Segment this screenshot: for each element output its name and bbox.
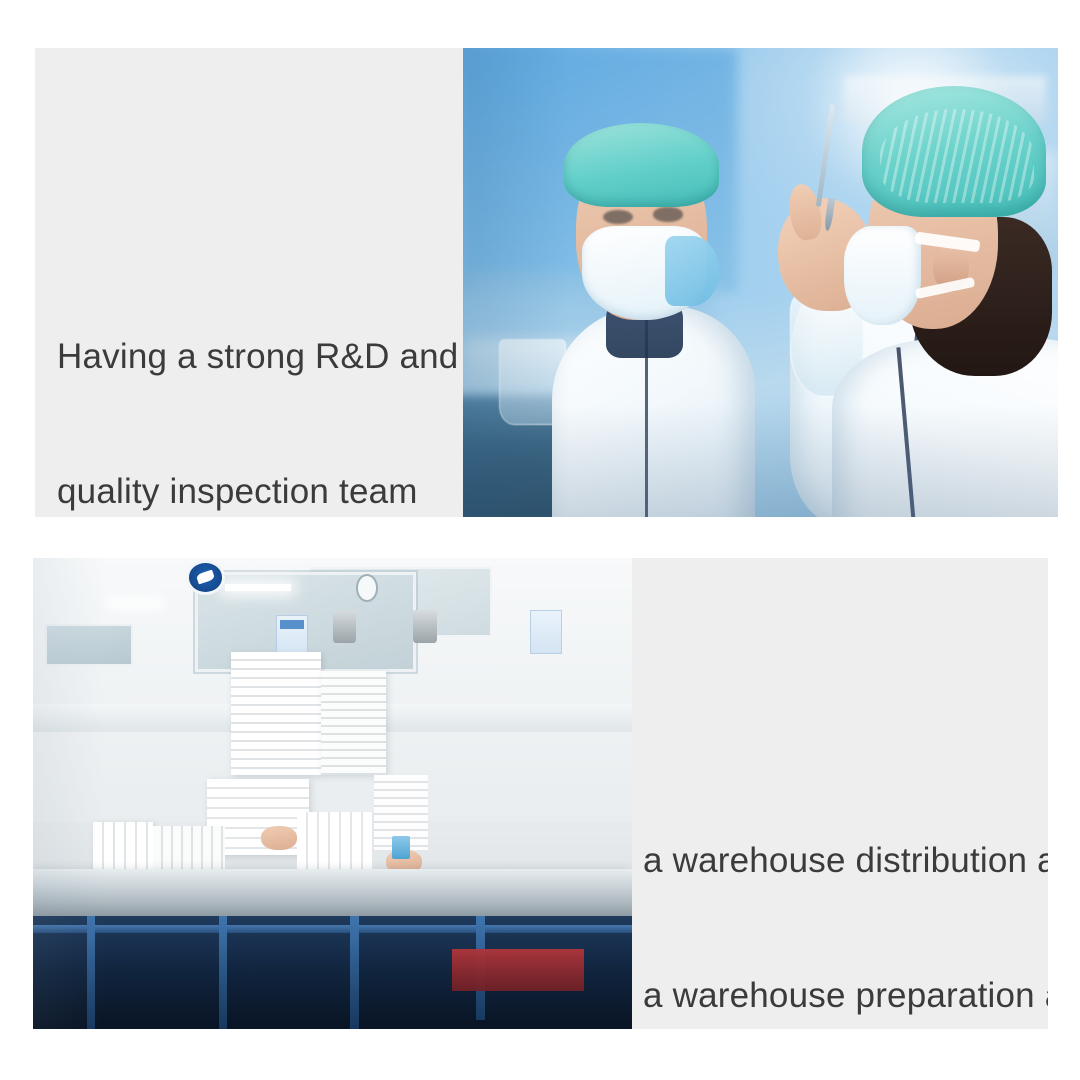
- caption-line-1: Having a strong R&D and: [57, 334, 458, 379]
- caption-line-2: quality inspection team: [57, 469, 458, 514]
- poster-canvas: Having a strong R&D and quality inspecti…: [0, 0, 1080, 1080]
- caption-warehouse-areas: a warehouse distribution area a warehous…: [643, 748, 1048, 1029]
- caption-line-2: a warehouse preparation area: [643, 973, 1048, 1018]
- photo-warehouse-packaging: [33, 558, 632, 1029]
- warehouse-scene: [33, 558, 632, 1029]
- section-rnd-quality: Having a strong R&D and quality inspecti…: [35, 48, 1058, 517]
- lab-scene: [463, 48, 1058, 517]
- section-warehouse-areas: a warehouse distribution area a warehous…: [33, 558, 1048, 1029]
- lab-vignette: [463, 48, 1058, 517]
- warehouse-vignette: [33, 558, 632, 1029]
- photo-laboratory-inspection: [463, 48, 1058, 517]
- caption-line-1: a warehouse distribution area: [643, 838, 1048, 883]
- caption-rnd-quality: Having a strong R&D and quality inspecti…: [57, 244, 458, 517]
